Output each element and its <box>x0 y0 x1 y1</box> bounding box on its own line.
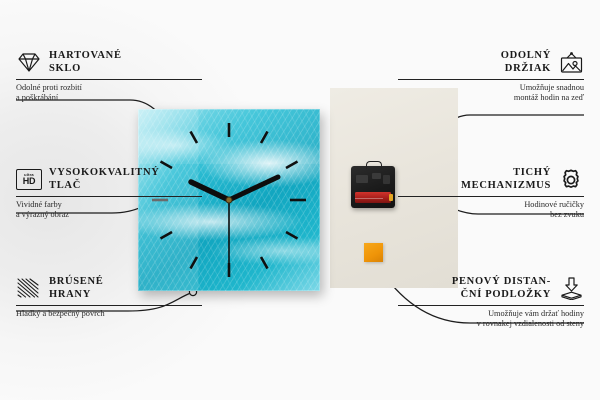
feature-title-line1: ODOLNÝ <box>501 50 551 61</box>
feature-sub-line1: Umožňuje vám držať hodiny <box>488 309 584 318</box>
feature-sub-line2: a výrazný obraz <box>16 210 69 219</box>
diamond-icon <box>16 51 42 75</box>
mechanism-button <box>356 175 368 183</box>
divider <box>398 305 584 306</box>
feature-title-line2: SKLO <box>49 63 81 74</box>
divider <box>16 305 202 306</box>
quartz-clock-mechanism <box>351 166 395 208</box>
divider <box>16 196 202 197</box>
battery-label-stripe <box>355 198 383 199</box>
feature-sub-line1: Vividné farby <box>16 200 62 209</box>
feature-title-line2: DRŽIAK <box>505 63 551 74</box>
gear-icon <box>558 168 584 192</box>
mechanism-hook <box>366 161 382 169</box>
ultra-hd-icon: ultra HD <box>16 168 42 192</box>
divider <box>398 79 584 80</box>
divider <box>16 79 202 80</box>
feature-title-line1: PENOVÝ DISTAN- <box>452 276 551 287</box>
feature-sub-line1: Hladký a bezpečný povrch <box>16 309 105 318</box>
product-infographic: HARTOVANÉ SKLO Odolné proti rozbití a po… <box>0 0 600 400</box>
feature-foam-spacers: PENOVÝ DISTAN- ČNÍ PODLOŽKY Umožňuje vám… <box>398 276 584 330</box>
minute-hand <box>229 177 278 200</box>
feature-sub-line2: a poškrábání <box>16 93 58 102</box>
mechanism-button <box>383 175 390 184</box>
beveled-edge-icon <box>16 277 42 301</box>
foam-spacer-pad <box>364 243 383 262</box>
feature-sub-line1: Umožňuje snadnou <box>520 83 584 92</box>
feature-sub-line2: bez zvuku <box>550 210 584 219</box>
feature-title-line1: TICHÝ <box>513 167 551 178</box>
feature-sub-line1: Odolné proti rozbití <box>16 83 82 92</box>
feature-tempered-glass: HARTOVANÉ SKLO Odolné proti rozbití a po… <box>16 50 202 104</box>
ultra-hd-big-label: HD <box>23 177 36 186</box>
feature-high-quality-print: ultra HD VYSOKOKVALITNÝ TLAČ Vividné far… <box>16 167 202 221</box>
feature-beveled-edges: BRÚSENÉ HRANY Hladký a bezpečný povrch <box>16 276 202 319</box>
feature-silent-mechanism: TICHÝ MECHANIZMUS Hodinové ručičky bez z… <box>398 167 584 221</box>
divider <box>398 196 584 197</box>
feature-title-line2: ČNÍ PODLOŽKY <box>461 289 551 300</box>
feature-title-line2: MECHANIZMUS <box>461 180 551 191</box>
feature-title-line1: HARTOVANÉ <box>49 50 122 61</box>
mechanism-button <box>372 173 381 179</box>
feature-title-line1: VYSOKOKVALITNÝ <box>49 167 160 178</box>
feature-title-line2: TLAČ <box>49 180 81 191</box>
picture-hanger-icon <box>558 51 584 75</box>
feature-durable-holder: ODOLNÝ DRŽIAK Umožňuje snadnou montáž ho… <box>398 50 584 104</box>
feature-sub-line2: montáž hodin na zeď <box>514 93 584 102</box>
foam-pad-icon <box>558 277 584 301</box>
feature-sub-line2: v rovnakej vzdialenosti od steny <box>477 319 584 328</box>
feature-title-line1: BRÚSENÉ <box>49 276 104 287</box>
feature-title-line2: HRANY <box>49 289 91 300</box>
feature-sub-line1: Hodinové ručičky <box>524 200 584 209</box>
